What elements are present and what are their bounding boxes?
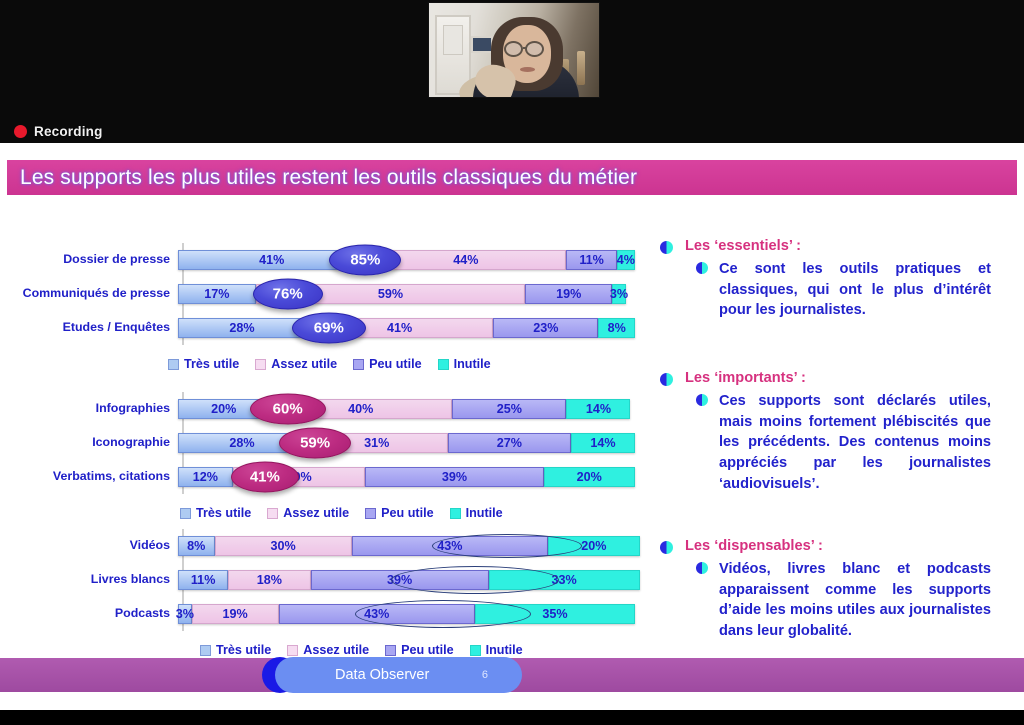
eyeglass-right xyxy=(525,41,544,57)
bar-segment-tr-s-utile: 8% xyxy=(178,536,215,556)
segment-value: 3% xyxy=(610,287,628,301)
callout-ellipse: 69% xyxy=(292,313,366,344)
sub-bullet-icon xyxy=(696,262,708,274)
presentation-slide: Les supports les plus utiles restent les… xyxy=(0,143,1024,710)
chart-rows: Infographies20%40%25%14%60%Iconographie2… xyxy=(0,392,660,494)
segment-value: 3% xyxy=(176,607,194,621)
insight-heading-row: Les ‘dispensables’ : xyxy=(660,538,1016,554)
chart-row: Iconographie28%31%27%14%59% xyxy=(0,426,660,460)
segment-value: 14% xyxy=(590,436,615,450)
eyeglass-bridge xyxy=(523,47,527,49)
slide-title-bar: Les supports les plus utiles restent les… xyxy=(7,160,1017,195)
chart-row: Podcasts3%19%43%35% xyxy=(0,597,660,631)
category-label: Iconographie xyxy=(0,436,178,449)
legend-item-tres-utile: Très utile xyxy=(168,357,239,371)
segment-value: 11% xyxy=(191,573,216,587)
chart-essentiels: Dossier de presse41%44%11%4%85%Communiqu… xyxy=(0,243,660,371)
legend-label-assez-utile: Assez utile xyxy=(283,506,349,520)
legend-label-inutile: Inutile xyxy=(466,506,503,520)
chart-row: Livres blancs11%18%39%33% xyxy=(0,563,660,597)
footer-brand-label: Data Observer xyxy=(335,667,429,683)
bar-segment-peu-utile: 23% xyxy=(493,318,598,338)
bar-segment-inutile: 3% xyxy=(612,284,626,304)
segment-value: 25% xyxy=(497,402,522,416)
segment-value: 18% xyxy=(257,573,282,587)
callout-ellipse: 60% xyxy=(250,394,326,425)
segment-value: 4% xyxy=(617,253,635,267)
chart-rows: Dossier de presse41%44%11%4%85%Communiqu… xyxy=(0,243,660,345)
legend-item-peu-utile: Peu utile xyxy=(385,643,453,657)
segment-value: 20% xyxy=(581,539,606,553)
legend-swatch-assez-utile xyxy=(267,508,278,519)
legend-swatch-peu-utile xyxy=(353,359,364,370)
stacked-bar: 28%41%23%8%69% xyxy=(178,318,660,338)
legend-importants: Très utile Assez utile Peu utile Inutile xyxy=(0,506,660,520)
legend-swatch-inutile xyxy=(438,359,449,370)
stacked-bar: 8%30%43%20% xyxy=(178,536,660,556)
legend-item-inutile: Inutile xyxy=(470,643,523,657)
bar-segment-peu-utile: 11% xyxy=(566,250,616,270)
sub-bullet-icon xyxy=(696,562,708,574)
bar-segment-tr-s-utile: 28% xyxy=(178,318,306,338)
legend-item-tres-utile: Très utile xyxy=(180,506,251,520)
segment-value: 23% xyxy=(533,321,558,335)
insight-heading: Les ‘importants’ : xyxy=(685,370,806,386)
segment-value: 28% xyxy=(229,321,254,335)
stacked-bar: 11%18%39%33% xyxy=(178,570,660,590)
bar-segment-tr-s-utile: 17% xyxy=(178,284,256,304)
chart-row: Verbatims, citations12%29%39%20%41% xyxy=(0,460,660,494)
bar-segment-inutile: 14% xyxy=(566,399,630,419)
participant-mouth xyxy=(520,67,535,72)
insight-heading: Les ‘essentiels’ : xyxy=(685,238,801,254)
legend-label-assez-utile: Assez utile xyxy=(303,643,369,657)
bar-segment-inutile: 20% xyxy=(544,467,635,487)
chart-row: Dossier de presse41%44%11%4%85% xyxy=(0,243,660,277)
segment-value: 8% xyxy=(608,321,626,335)
segment-value: 41% xyxy=(387,321,412,335)
insight-body: Ce sont les outils pratiques et classiqu… xyxy=(719,259,991,321)
bar-segment-tr-s-utile: 3% xyxy=(178,604,192,624)
callout-ellipse: 59% xyxy=(279,428,351,459)
bar-segment-tr-s-utile: 11% xyxy=(178,570,228,590)
background-picture xyxy=(471,36,493,53)
segment-value: 12% xyxy=(193,470,218,484)
bar-segment-peu-utile: 25% xyxy=(452,399,566,419)
insight-block-essentiels: Les ‘essentiels’ : Ce sont les outils pr… xyxy=(660,238,1016,321)
bar-segment-assez-utile: 18% xyxy=(228,570,310,590)
legend-item-inutile: Inutile xyxy=(438,357,491,371)
callout-ellipse: 85% xyxy=(329,245,401,276)
legend-essentiels: Très utile Assez utile Peu utile Inutile xyxy=(0,357,660,371)
category-label: Vidéos xyxy=(0,539,178,552)
chart-dispensables: Vidéos8%30%43%20%Livres blancs11%18%39%3… xyxy=(0,529,660,657)
insight-body-row: Ces supports sont déclarés utiles, mais … xyxy=(660,391,1016,495)
legend-swatch-inutile xyxy=(470,645,481,656)
sub-bullet-icon xyxy=(696,394,708,406)
legend-label-inutile: Inutile xyxy=(486,643,523,657)
chart-rows: Vidéos8%30%43%20%Livres blancs11%18%39%3… xyxy=(0,529,660,631)
legend-swatch-tres-utile xyxy=(180,508,191,519)
legend-item-tres-utile: Très utile xyxy=(200,643,271,657)
callout-ellipse xyxy=(432,534,582,558)
callout-ellipse xyxy=(355,600,531,628)
callout-ellipse: 41% xyxy=(231,462,299,493)
segment-value: 41% xyxy=(259,253,284,267)
stacked-bar: 28%31%27%14%59% xyxy=(178,433,660,453)
segment-value: 20% xyxy=(211,402,236,416)
legend-label-peu-utile: Peu utile xyxy=(381,506,433,520)
category-label: Communiqués de presse xyxy=(0,287,178,300)
segment-value: 44% xyxy=(453,253,478,267)
legend-label-assez-utile: Assez utile xyxy=(271,357,337,371)
segment-value: 20% xyxy=(577,470,602,484)
legend-swatch-tres-utile xyxy=(168,359,179,370)
segment-value: 31% xyxy=(364,436,389,450)
record-dot-icon xyxy=(14,125,27,138)
segment-value: 30% xyxy=(270,539,295,553)
category-label: Etudes / Enquêtes xyxy=(0,321,178,334)
bar-segment-inutile: 8% xyxy=(598,318,635,338)
legend-label-tres-utile: Très utile xyxy=(184,357,239,371)
insight-heading-row: Les ‘essentiels’ : xyxy=(660,238,1016,254)
category-label: Dossier de presse xyxy=(0,253,178,266)
bar-segment-assez-utile: 30% xyxy=(215,536,352,556)
bullet-icon xyxy=(660,241,673,254)
callout-ellipse xyxy=(391,566,559,594)
stacked-bar: 3%19%43%35% xyxy=(178,604,660,624)
bar-segment-peu-utile: 39% xyxy=(365,467,543,487)
insight-body-row: Vidéos, livres blanc et podcasts apparai… xyxy=(660,559,1016,642)
legend-swatch-assez-utile xyxy=(287,645,298,656)
callout-ellipse: 76% xyxy=(253,279,323,310)
stacked-bar: 20%40%25%14%60% xyxy=(178,399,660,419)
segment-value: 19% xyxy=(223,607,248,621)
segment-value: 59% xyxy=(378,287,403,301)
slide-title: Les supports les plus utiles restent les… xyxy=(7,166,637,190)
bar-segment-tr-s-utile: 12% xyxy=(178,467,233,487)
chart-importants: Infographies20%40%25%14%60%Iconographie2… xyxy=(0,392,660,520)
legend-label-peu-utile: Peu utile xyxy=(369,357,421,371)
segment-value: 8% xyxy=(187,539,205,553)
insight-block-dispensables: Les ‘dispensables’ : Vidéos, livres blan… xyxy=(660,538,1016,642)
insight-heading: Les ‘dispensables’ : xyxy=(685,538,823,554)
video-conference-strip: Recording xyxy=(0,0,1024,143)
background-candle xyxy=(577,51,585,85)
segment-value: 35% xyxy=(542,607,567,621)
segment-value: 28% xyxy=(229,436,254,450)
bullet-icon xyxy=(660,541,673,554)
segment-value: 27% xyxy=(497,436,522,450)
legend-label-tres-utile: Très utile xyxy=(196,506,251,520)
legend-label-tres-utile: Très utile xyxy=(216,643,271,657)
legend-item-assez-utile: Assez utile xyxy=(267,506,349,520)
insight-body: Ces supports sont déclarés utiles, mais … xyxy=(719,391,991,495)
bullet-icon xyxy=(660,373,673,386)
category-label: Infographies xyxy=(0,402,178,415)
legend-swatch-peu-utile xyxy=(385,645,396,656)
screen-root: Recording Les supports les plus utiles r… xyxy=(0,0,1024,725)
screen-bottom-bezel xyxy=(0,710,1024,725)
bar-segment-assez-utile: 19% xyxy=(192,604,279,624)
legend-item-assez-utile: Assez utile xyxy=(287,643,369,657)
legend-swatch-inutile xyxy=(450,508,461,519)
chart-row: Communiqués de presse17%59%19%3%76% xyxy=(0,277,660,311)
legend-item-inutile: Inutile xyxy=(450,506,503,520)
category-label: Podcasts xyxy=(0,607,178,620)
legend-item-peu-utile: Peu utile xyxy=(365,506,433,520)
legend-item-peu-utile: Peu utile xyxy=(353,357,421,371)
stacked-bar: 41%44%11%4%85% xyxy=(178,250,660,270)
category-label: Livres blancs xyxy=(0,573,178,586)
chart-row: Etudes / Enquêtes28%41%23%8%69% xyxy=(0,311,660,345)
legend-dispensables: Très utile Assez utile Peu utile Inutile xyxy=(0,643,660,657)
segment-value: 19% xyxy=(556,287,581,301)
insight-heading-row: Les ‘importants’ : xyxy=(660,370,1016,386)
segment-value: 17% xyxy=(204,287,229,301)
footer-brand-pill: Data Observer 6 xyxy=(275,657,522,693)
legend-label-inutile: Inutile xyxy=(454,357,491,371)
slide-page-number: 6 xyxy=(482,669,488,681)
recording-indicator[interactable]: Recording xyxy=(14,124,103,139)
chart-row: Infographies20%40%25%14%60% xyxy=(0,392,660,426)
legend-swatch-peu-utile xyxy=(365,508,376,519)
stacked-bar: 12%29%39%20%41% xyxy=(178,467,660,487)
recording-label: Recording xyxy=(34,124,103,139)
insight-body: Vidéos, livres blanc et podcasts apparai… xyxy=(719,559,991,642)
bar-segment-inutile: 14% xyxy=(571,433,635,453)
legend-swatch-assez-utile xyxy=(255,359,266,370)
segment-value: 11% xyxy=(579,253,604,267)
chart-row: Vidéos8%30%43%20% xyxy=(0,529,660,563)
segment-value: 40% xyxy=(348,402,373,416)
insight-block-importants: Les ‘importants’ : Ces supports sont déc… xyxy=(660,370,1016,495)
legend-label-peu-utile: Peu utile xyxy=(401,643,453,657)
eyeglass-left xyxy=(504,41,523,57)
legend-item-assez-utile: Assez utile xyxy=(255,357,337,371)
bar-segment-inutile: 4% xyxy=(617,250,635,270)
bar-segment-peu-utile: 19% xyxy=(525,284,612,304)
participant-video-tile[interactable] xyxy=(428,2,600,98)
bar-segment-peu-utile: 27% xyxy=(448,433,571,453)
stacked-bar: 17%59%19%3%76% xyxy=(178,284,660,304)
segment-value: 39% xyxy=(442,470,467,484)
category-label: Verbatims, citations xyxy=(0,470,178,483)
segment-value: 14% xyxy=(586,402,611,416)
legend-swatch-tres-utile xyxy=(200,645,211,656)
insight-body-row: Ce sont les outils pratiques et classiqu… xyxy=(660,259,1016,321)
